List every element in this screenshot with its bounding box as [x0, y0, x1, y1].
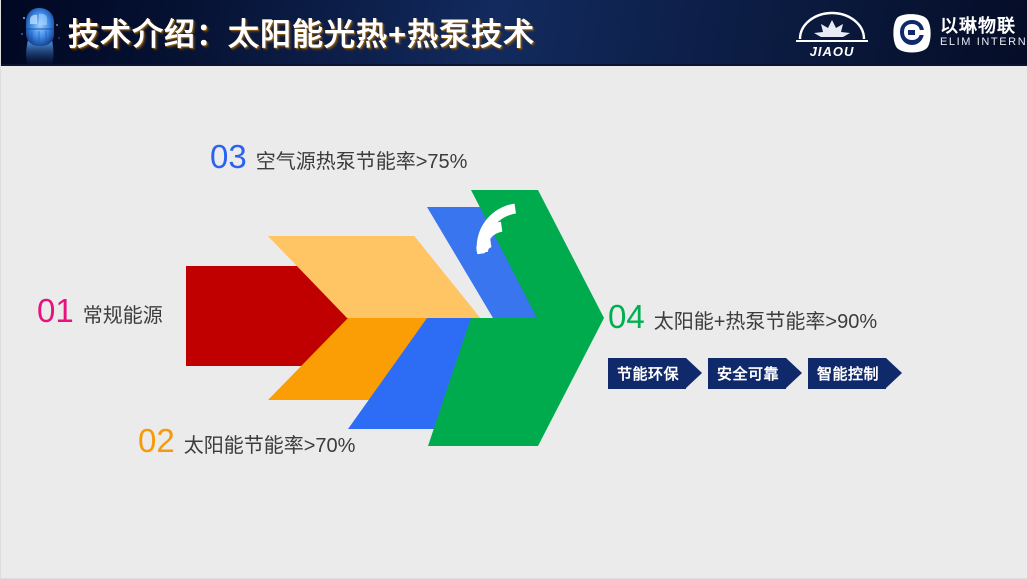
step-number-04: 04 — [608, 298, 645, 336]
step-text-01: 常规能源 — [83, 299, 163, 328]
step-label-02: 02 太阳能节能率>70% — [138, 422, 355, 460]
logo-jiaou: JIAOU — [786, 7, 878, 59]
logo-elim-en: ELIM INTERNET — [940, 36, 1027, 48]
step-text-02: 太阳能节能率>70% — [184, 429, 356, 458]
step-label-03: 03 空气源热泵节能率>75% — [210, 138, 467, 176]
logo-jiaou-text: JIAOU — [786, 44, 878, 59]
step-label-01: 01 常规能源 — [37, 292, 163, 330]
page-title: 技术介绍：太阳能光热+热泵技术 — [68, 9, 535, 54]
step-text-03: 空气源热泵节能率>75% — [256, 145, 468, 174]
sunrise-icon — [786, 7, 878, 47]
badge-energy-saving[interactable]: 节能环保 — [608, 358, 686, 389]
logo-elim: 以琳物联 ELIM INTERNET — [890, 9, 1018, 57]
badge-smart-control[interactable]: 智能控制 — [808, 358, 886, 389]
fist-icon — [12, 0, 68, 66]
slide-header: 技术介绍：太阳能光热+热泵技术 JIAOU 以琳物联 — [0, 0, 1027, 66]
step-number-02: 02 — [138, 422, 175, 460]
step-number-03: 03 — [210, 138, 247, 176]
step-number-01: 01 — [37, 292, 74, 330]
elim-g-mark-icon — [890, 11, 934, 55]
logo-elim-cn: 以琳物联 — [940, 12, 1016, 38]
feature-badge-row: 节能环保 安全可靠 智能控制 — [608, 358, 886, 389]
slide-canvas: 技术介绍：太阳能光热+热泵技术 JIAOU 以琳物联 — [0, 0, 1027, 579]
step-label-04: 04 太阳能+热泵节能率>90% — [608, 298, 877, 336]
badge-safe-reliable[interactable]: 安全可靠 — [708, 358, 786, 389]
step-text-04: 太阳能+热泵节能率>90% — [654, 305, 877, 334]
